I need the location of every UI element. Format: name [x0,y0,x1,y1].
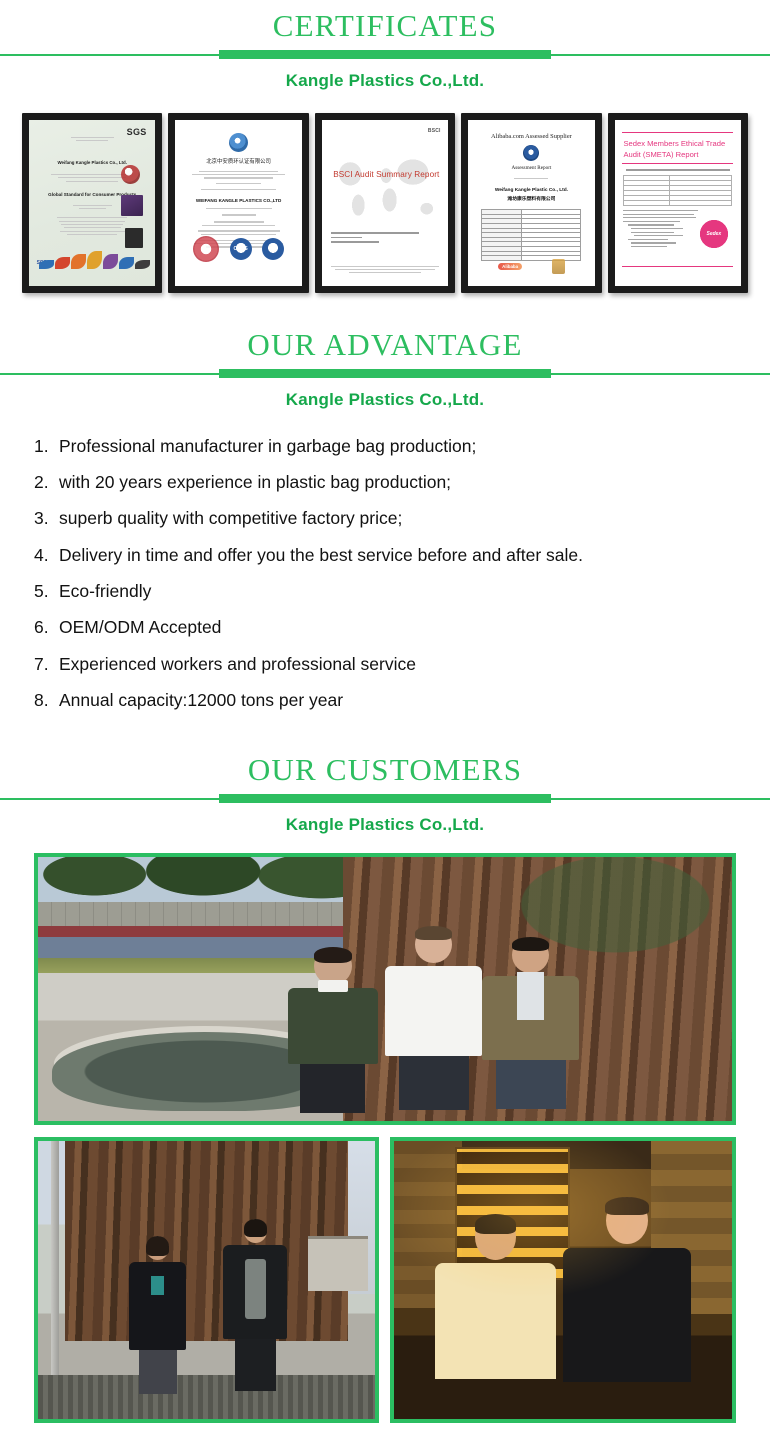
paved-ground [38,1375,375,1419]
wooden-sculpture-wall [65,1141,348,1341]
certificate-frame-bsci[interactable]: BSCI BSCI Audit Summary Report [315,113,455,293]
person-figure [129,1236,186,1419]
smeta-summary-table [623,175,732,206]
person-figure [482,937,579,1122]
advantage-list: 1. Professional manufacturer in garbage … [34,432,736,715]
world-map-watermark [327,146,443,232]
iaf-seal-icon: IAF [262,238,284,260]
certificate-image-smeta: Sedex Members Ethical Trade Audit (SMETA… [615,120,741,286]
advantage-section-header: OUR ADVANTAGE Kangle Plastics Co.,Ltd. [0,319,770,410]
advantage-divider [0,367,770,381]
certificates-gallery: SGS Weifang Kangle Plastics Co., Ltd. Gl… [0,91,770,293]
bsci-report-title: BSCI Audit Summary Report [333,170,439,179]
list-item: 4. Delivery in time and offer you the be… [34,541,736,569]
list-item: 7. Experienced workers and professional … [34,650,736,678]
list-item-number: 8. [34,686,59,714]
iso-company-name: WEIFANG KANGLE PLASTICS CO.,LTD [182,198,296,203]
table-row [624,200,732,205]
iso-accreditation-seals: CNAS IAF [175,236,301,262]
certificate-frame-iso9001[interactable]: 北京中安质环认证有限公司 WEIFANG KANGLE PLASTICS CO.… [168,113,308,293]
bsci-footer-lines [331,263,440,275]
sgs-logo-text: SGS [127,127,147,137]
list-item: 1. Professional manufacturer in garbage … [34,432,736,460]
bsci-meta-lines [331,229,423,246]
certificates-divider [0,48,770,62]
list-item-text: superb quality with competitive factory … [59,504,736,532]
iso-badge-icon [229,133,248,152]
customers-section-header: OUR CUSTOMERS Kangle Plastics Co.,Ltd. [0,744,770,835]
customer-photo-group-outdoor-garden[interactable] [34,853,736,1125]
smeta-bottom-rule [622,266,733,267]
alibaba-gold-seal-icon [552,259,565,274]
alibaba-heading: Alibaba.com Assessed Supplier [475,133,589,140]
alibaba-assessment-table [481,209,581,261]
list-item: 5. Eco-friendly [34,577,736,605]
sgs-rainbow-swoosh-icon [39,248,150,270]
sedex-logo-icon [697,217,731,251]
customer-photo-row [34,1137,736,1423]
advantage-title: OUR ADVANTAGE [0,319,770,360]
smeta-mid-rule [622,163,733,164]
list-item-text: OEM/ODM Accepted [59,613,736,641]
person-figure [223,1219,287,1419]
list-item-text: Delivery in time and offer you the best … [59,541,736,569]
list-item-text: Experienced workers and professional ser… [59,650,736,678]
certificate-image-iso9001: 北京中安质环认证有限公司 WEIFANG KANGLE PLASTICS CO.… [175,120,301,286]
cqc-red-seal-icon [193,236,219,262]
customers-divider [0,792,770,806]
list-item-text: Professional manufacturer in garbage bag… [59,432,736,460]
customers-title: OUR CUSTOMERS [0,744,770,785]
person-figure [563,1197,691,1419]
certificate-frame-sgs[interactable]: SGS Weifang Kangle Plastics Co., Ltd. Gl… [22,113,162,293]
list-item: 6. OEM/ODM Accepted [34,613,736,641]
bsci-logo-text: BSCI [428,128,441,134]
divider-thick-bar [219,794,551,803]
sgs-red-stamp-icon [121,165,140,184]
certificate-frame-alibaba[interactable]: Alibaba.com Assessed Supplier Assessment… [461,113,601,293]
person-figure [385,926,482,1121]
sgs-purple-badge-icon [121,195,142,217]
certificate-frame-smeta[interactable]: Sedex Members Ethical Trade Audit (SMETA… [608,113,748,293]
smeta-meta-line [623,167,732,173]
alibaba-subheading: Assessment Report [475,165,589,171]
list-item: 3. superb quality with competitive facto… [34,504,736,532]
list-item-number: 5. [34,577,59,605]
list-item-text: Annual capacity:12000 tons per year [59,686,736,714]
photo-scene [394,1141,732,1419]
divider-thick-bar [219,50,551,59]
list-item-number: 3. [34,504,59,532]
list-item-number: 4. [34,541,59,569]
customers-photo-gallery [0,835,770,1451]
photo-scene [38,1141,375,1419]
certificate-image-bsci: BSCI BSCI Audit Summary Report [322,120,448,286]
advantage-subtitle: Kangle Plastics Co.,Ltd. [0,381,770,410]
person-figure [288,947,378,1121]
list-item-number: 1. [34,432,59,460]
list-item-number: 7. [34,650,59,678]
customer-photo-pair-wooden-wall[interactable] [34,1137,379,1423]
divider-thick-bar [219,369,551,378]
alibaba-company-name-cn: 潍坊康乐塑料有限公司 [475,196,589,204]
certificates-section-header: CERTIFICATES Kangle Plastics Co.,Ltd. [0,0,770,91]
list-item: 8. Annual capacity:12000 tons per year [34,686,736,714]
smeta-top-rule [622,132,733,133]
company-profile-page: CERTIFICATES Kangle Plastics Co.,Ltd. SG… [0,0,770,1451]
cnas-seal-icon: CNAS [230,238,252,260]
alibaba-company-name: Weifang Kangle Plastic Co., Ltd. [475,187,589,195]
background-building [308,1236,369,1292]
smeta-body-lines [623,208,698,250]
photo-scene [38,857,732,1121]
list-item-number: 6. [34,613,59,641]
sgs-black-badge-icon [125,228,143,248]
list-item: 2. with 20 years experience in plastic b… [34,468,736,496]
certificate-image-alibaba: Alibaba.com Assessed Supplier Assessment… [468,120,594,286]
alibaba-logo-icon: Alibaba [498,263,522,270]
list-item-number: 2. [34,468,59,496]
certificates-title: CERTIFICATES [0,0,770,41]
customers-subtitle: Kangle Plastics Co.,Ltd. [0,806,770,835]
advantage-content: 1. Professional manufacturer in garbage … [0,410,770,733]
alibaba-verified-badge-icon [523,145,539,161]
iso-chinese-title: 北京中安质环认证有限公司 [182,157,296,165]
alibaba-footer-marks: Alibaba [468,259,594,274]
person-figure [435,1214,557,1420]
smeta-report-title: Sedex Members Ethical Trade Audit (SMETA… [623,138,732,160]
certificate-image-sgs: SGS Weifang Kangle Plastics Co., Ltd. Gl… [29,120,155,286]
customer-photo-pair-restaurant[interactable] [390,1137,736,1423]
list-item-text: Eco-friendly [59,577,736,605]
certificates-subtitle: Kangle Plastics Co.,Ltd. [0,62,770,91]
list-item-text: with 20 years experience in plastic bag … [59,468,736,496]
